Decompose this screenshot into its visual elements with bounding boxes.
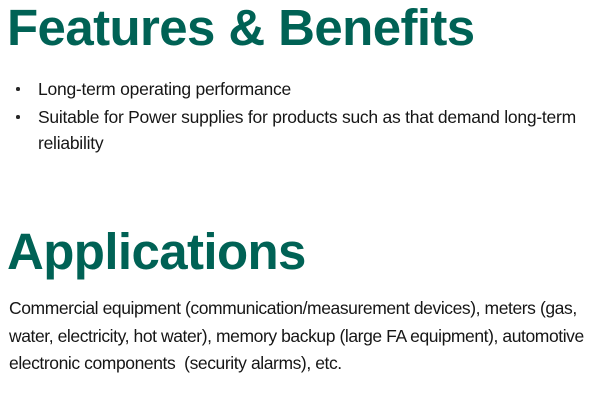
list-item: Long-term operating performance [0,76,600,102]
page-title-features-and-benefits: Features & Benefits [7,2,475,53]
bullet-dot-icon [16,87,20,91]
bullet-dot-icon [16,115,20,119]
list-item-label: Suitable for Power supplies for products… [38,107,576,153]
list-item: Suitable for Power supplies for products… [0,104,600,156]
features-bullet-list: Long-term operating performance Suitable… [0,76,600,158]
slide-canvas: Features & Benefits Long-term operating … [0,0,616,408]
page-title-applications: Applications [7,226,306,277]
applications-body-text: Commercial equipment (communication/meas… [9,295,616,378]
list-item-label: Long-term operating performance [38,79,291,99]
